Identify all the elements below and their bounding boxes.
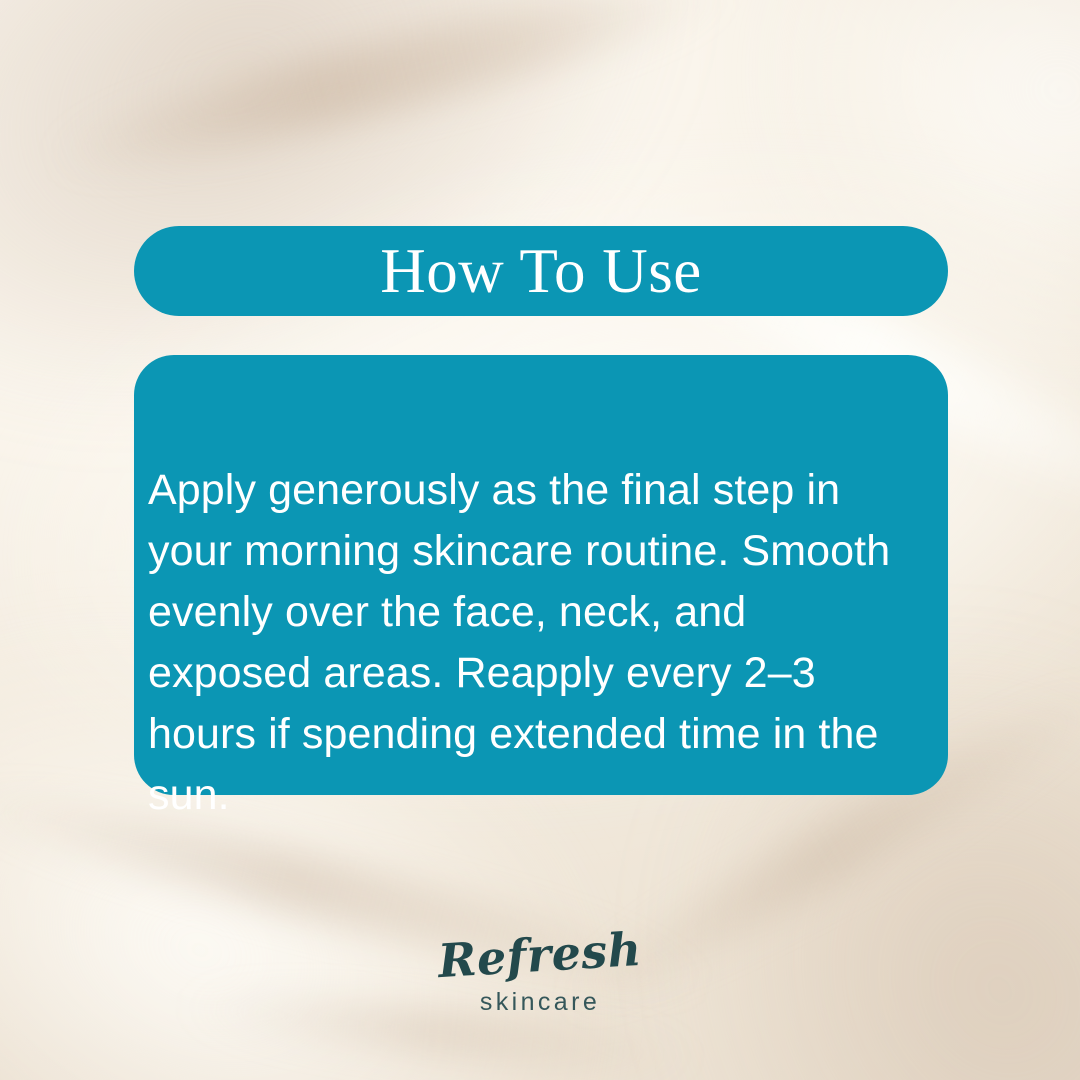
brand-name: Refresh xyxy=(437,924,643,986)
instructions-text: Apply generously as the final step in yo… xyxy=(148,460,918,826)
poster-canvas: How To Use Apply generously as the final… xyxy=(0,0,1080,1080)
instructions-card: Apply generously as the final step in yo… xyxy=(134,355,948,795)
brand-logo: Refresh skincare xyxy=(0,930,1080,1016)
brand-tagline: skincare xyxy=(0,988,1080,1016)
title-pill: How To Use xyxy=(134,226,948,316)
page-title: How To Use xyxy=(380,240,701,303)
